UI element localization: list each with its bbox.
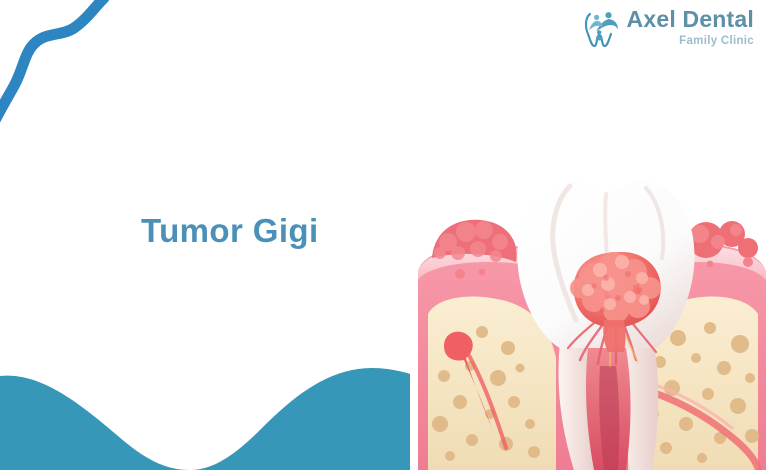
logo-wordmark: Axel Dental Family Clinic (627, 8, 754, 48)
tooth-cross-section-with-tumor (410, 152, 768, 470)
slide-canvas: Axel Dental Family Clinic Tumor Gigi (0, 0, 768, 470)
logo-subtitle: Family Clinic (679, 36, 754, 48)
page-title: Tumor Gigi (141, 212, 319, 250)
logo-title: Axel Dental (627, 8, 754, 31)
squiggle-decoration (0, 0, 130, 145)
tooth-family-logo-icon (583, 8, 621, 48)
brand-logo: Axel Dental Family Clinic (583, 8, 754, 48)
